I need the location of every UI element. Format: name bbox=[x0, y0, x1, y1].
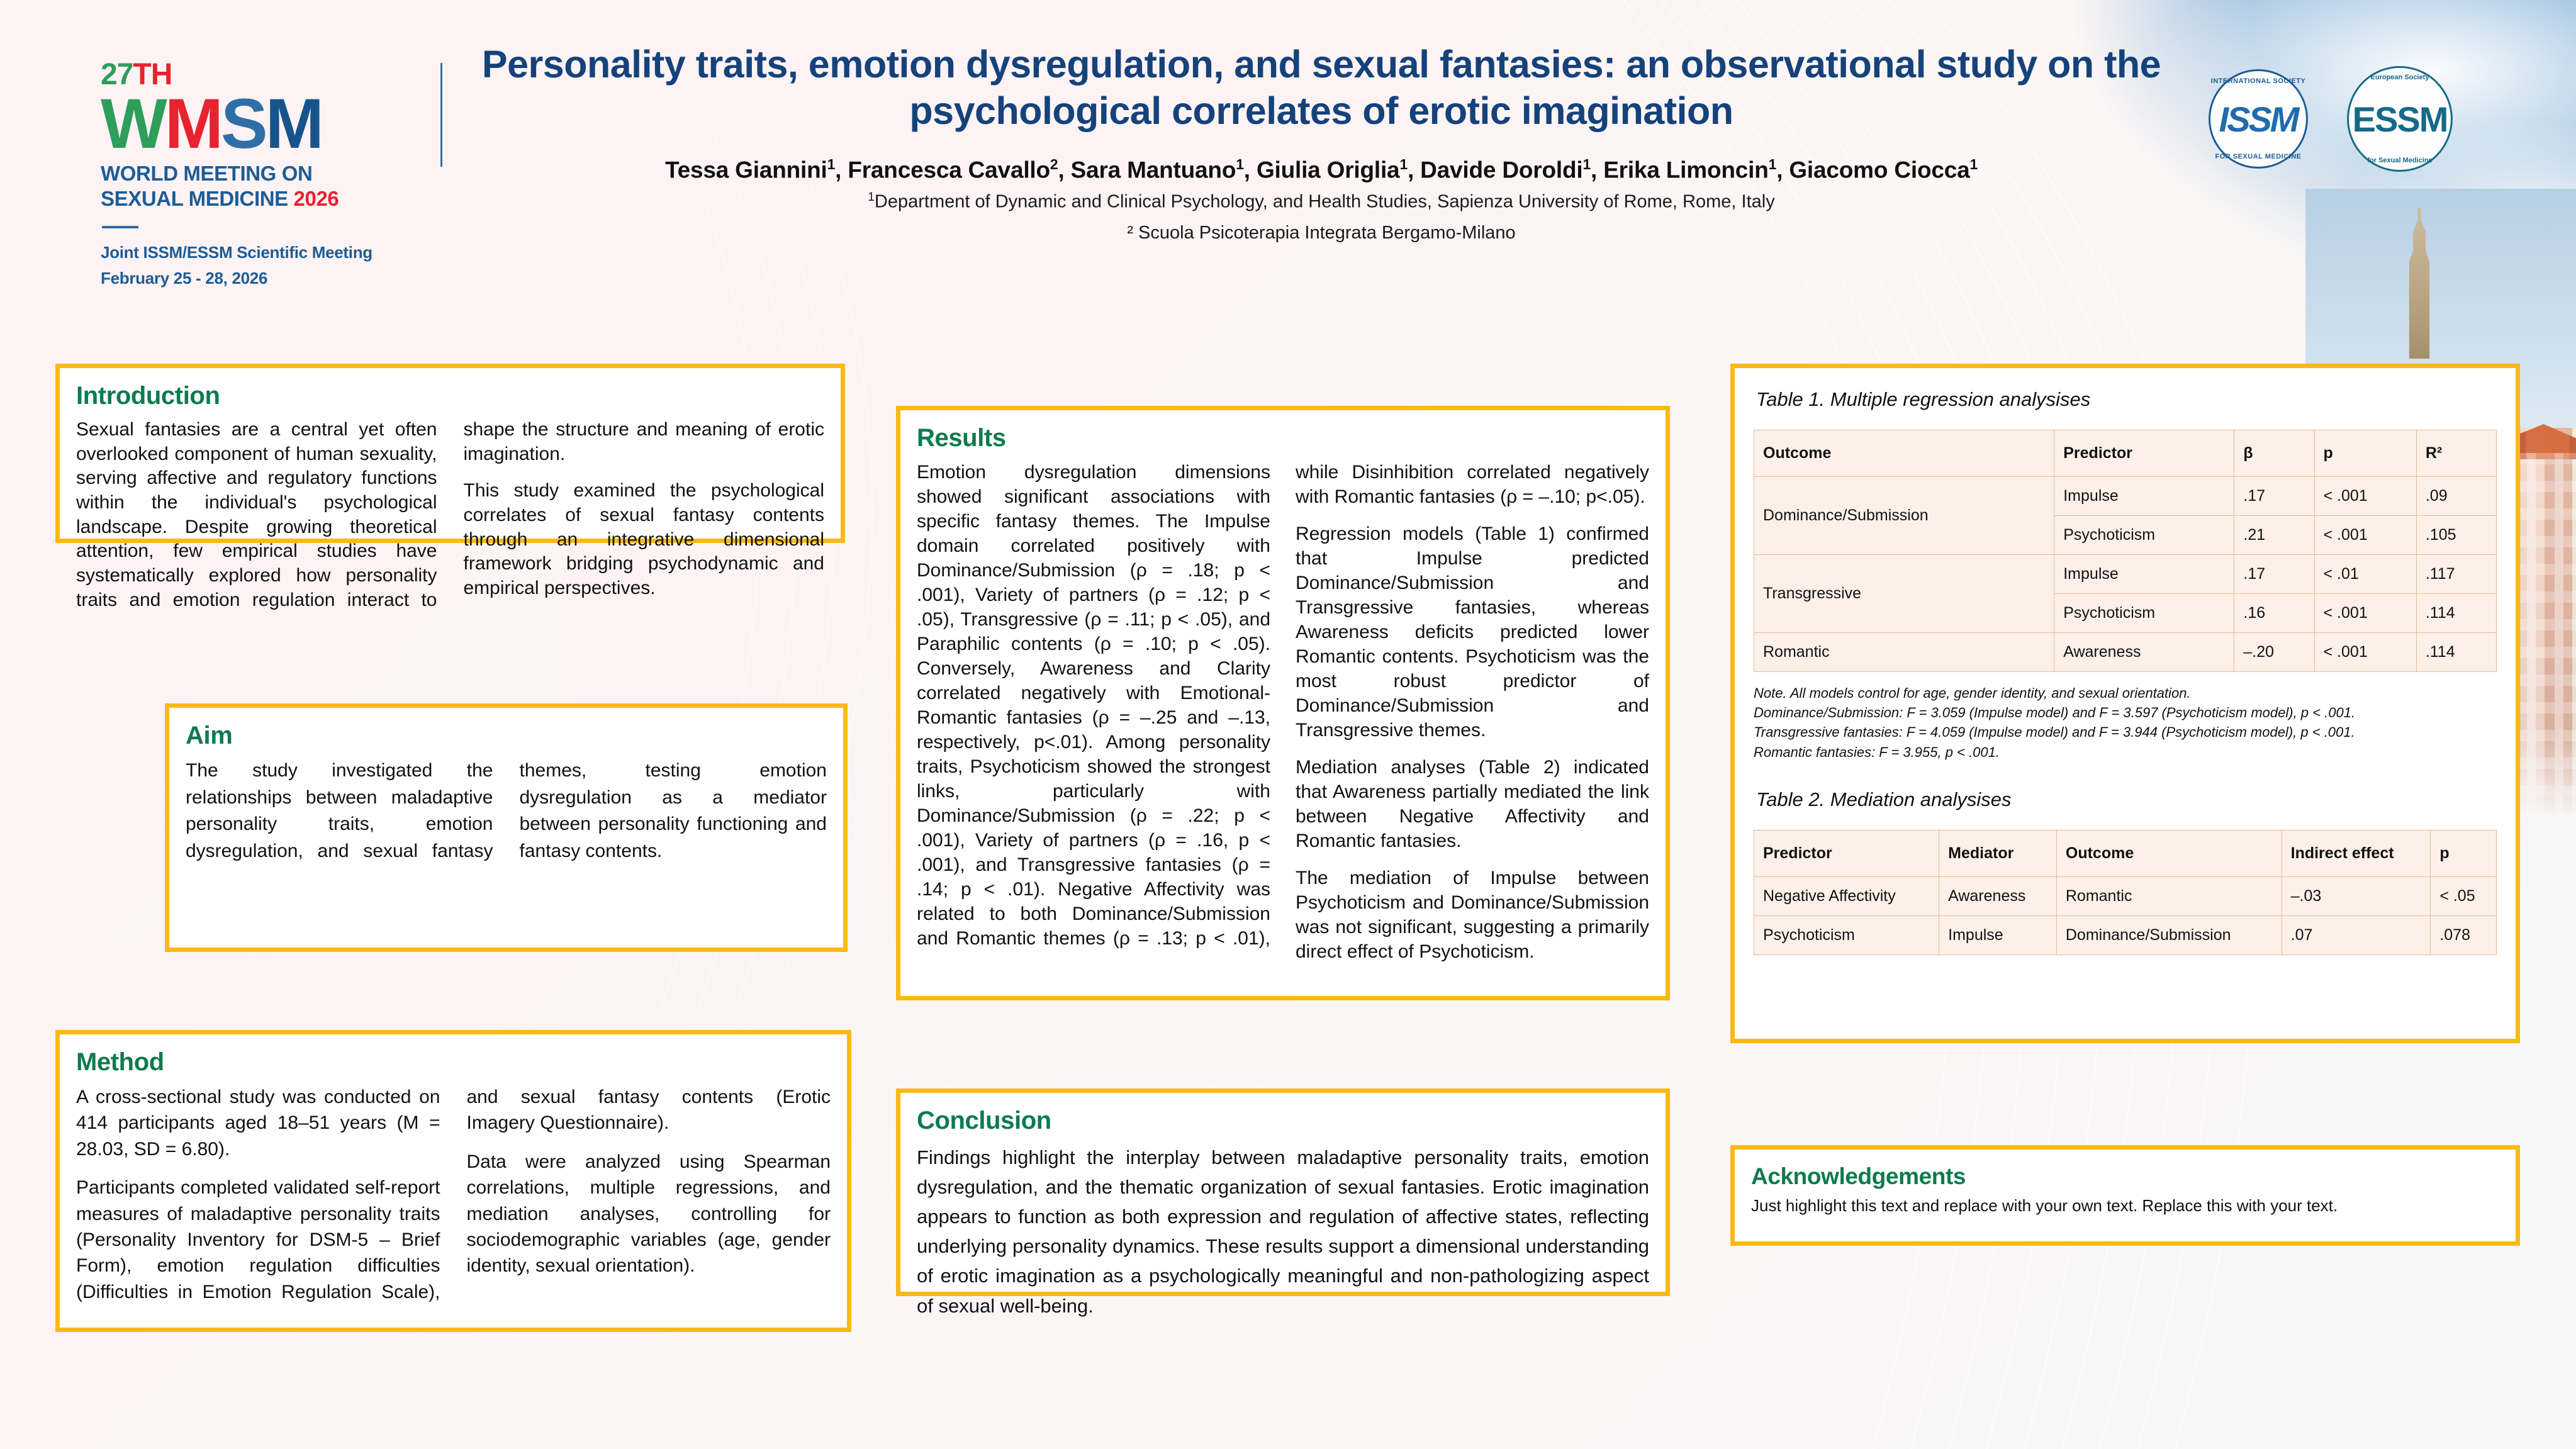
acknowledgements-text: Just highlight this text and replace wit… bbox=[1751, 1196, 2499, 1216]
table1-note-line-1: Note. All models control for age, gender… bbox=[1754, 683, 2497, 703]
table1-cell: –.20 bbox=[2234, 633, 2314, 672]
method-heading: Method bbox=[76, 1048, 831, 1077]
logo-letter-m2: M bbox=[266, 84, 322, 163]
table-row: PsychoticismImpulseDominance/Submission.… bbox=[1754, 915, 2497, 954]
section-results: Results Emotion dysregulation dimensions… bbox=[896, 406, 1670, 1000]
table-row: Negative AffectivityAwarenessRomantic–.0… bbox=[1754, 876, 2497, 915]
poster-header: 27TH WMSM WORLD MEETING ON SEXUAL MEDICI… bbox=[0, 0, 2576, 327]
table-row: TransgressiveImpulse.17< .01.117 bbox=[1754, 555, 2497, 594]
essm-ring-bottom-text: for Sexual Medicine bbox=[2347, 157, 2453, 164]
essm-logo: European Society ESSM for Sexual Medicin… bbox=[2347, 66, 2453, 172]
table1-cell: .105 bbox=[2416, 516, 2496, 555]
table2-header-2: Outcome bbox=[2056, 830, 2282, 876]
wmsm-conference-logo: 27TH WMSM WORLD MEETING ON SEXUAL MEDICI… bbox=[101, 60, 403, 292]
section-introduction: Introduction Sexual fantasies are a cent… bbox=[55, 364, 845, 543]
results-paragraph-4: The mediation of Impulse between Psychot… bbox=[1296, 866, 1649, 964]
table2-cell: Dominance/Submission bbox=[2056, 915, 2282, 954]
table1-header-2: β bbox=[2234, 430, 2314, 477]
table1-outcome-cell: Romantic bbox=[1754, 633, 2054, 672]
table-mediation-analyses: PredictorMediatorOutcomeIndirect effectp… bbox=[1754, 830, 2497, 955]
table1-cell: < .001 bbox=[2314, 477, 2416, 516]
table2-cell: Awareness bbox=[1939, 876, 2057, 915]
table2-body: Negative AffectivityAwarenessRomantic–.0… bbox=[1754, 876, 2497, 954]
method-body: A cross-sectional study was conducted on… bbox=[76, 1084, 831, 1305]
conclusion-heading: Conclusion bbox=[917, 1107, 1649, 1135]
page-title: Personality traits, emotion dysregulatio… bbox=[440, 41, 2202, 135]
issm-abbr: ISSM bbox=[2219, 99, 2298, 140]
aim-body: The study investigated the relationships… bbox=[186, 758, 827, 864]
table1-cell: < .01 bbox=[2314, 555, 2416, 594]
table1-cell: .117 bbox=[2416, 555, 2496, 594]
table1-caption: Table 1. Multiple regression analysises bbox=[1756, 388, 2497, 411]
table1-header-3: p bbox=[2314, 430, 2416, 477]
table2-cell: Negative Affectivity bbox=[1754, 876, 1939, 915]
table1-cell: .21 bbox=[2234, 516, 2314, 555]
logo-subtitle: WORLD MEETING ON SEXUAL MEDICINE 2026 bbox=[101, 161, 403, 212]
method-paragraph-3: Data were analyzed using Spearman correl… bbox=[467, 1149, 831, 1279]
affiliation-2: ² Scuola Psicoterapia Integrata Bergamo-… bbox=[440, 223, 2202, 243]
logo-acronym: WMSM bbox=[101, 91, 403, 156]
method-paragraph-1: A cross-sectional study was conducted on… bbox=[76, 1084, 440, 1162]
meeting-dates: February 25 - 28, 2026 bbox=[101, 266, 403, 292]
section-conclusion: Conclusion Findings highlight the interp… bbox=[896, 1088, 1670, 1296]
table2-cell: Impulse bbox=[1939, 915, 2057, 954]
logo-subtitle-line2: SEXUAL MEDICINE bbox=[101, 187, 294, 210]
table2-cell: Psychoticism bbox=[1754, 915, 1939, 954]
table2-header-row: PredictorMediatorOutcomeIndirect effectp bbox=[1754, 830, 2497, 876]
results-heading: Results bbox=[917, 424, 1649, 452]
table-multiple-regression: OutcomePredictorβpR² Dominance/Submissio… bbox=[1754, 430, 2497, 672]
table1-cell: .17 bbox=[2234, 555, 2314, 594]
author-list: Tessa Giannini1, Francesca Cavallo2, Sar… bbox=[440, 156, 2202, 183]
table1-note-line-2: Dominance/Submission: F = 3.059 (Impulse… bbox=[1754, 703, 2497, 722]
logo-letter-s: S bbox=[221, 84, 266, 163]
acknowledgements-heading: Acknowledgements bbox=[1751, 1163, 2499, 1190]
results-paragraph-3: Mediation analyses (Table 2) indicated t… bbox=[1296, 755, 1649, 853]
table1-cell: Psychoticism bbox=[2054, 516, 2234, 555]
logo-letter-w: W bbox=[101, 84, 165, 163]
table1-header-4: R² bbox=[2416, 430, 2496, 477]
logo-letter-m: M bbox=[165, 84, 221, 163]
logo-subtitle-year: 2026 bbox=[294, 187, 339, 210]
table2-cell: < .05 bbox=[2431, 876, 2497, 915]
table2-cell: –.03 bbox=[2282, 876, 2431, 915]
table1-note-line-4: Romantic fantasies: F = 3.955, p < .001. bbox=[1754, 742, 2497, 762]
essm-abbr: ESSM bbox=[2353, 99, 2448, 140]
logo-meeting-info: Joint ISSM/ESSM Scientific Meeting Febru… bbox=[101, 240, 403, 292]
section-aim: Aim The study investigated the relations… bbox=[165, 703, 848, 952]
affiliation-1: 1Department of Dynamic and Clinical Psyc… bbox=[440, 191, 2202, 213]
issm-ring-bottom-text: FOR SEXUAL MEDICINE bbox=[2209, 153, 2308, 160]
title-block: Personality traits, emotion dysregulatio… bbox=[440, 41, 2202, 243]
meeting-name: Joint ISSM/ESSM Scientific Meeting bbox=[101, 240, 403, 266]
table1-cell: < .001 bbox=[2314, 633, 2416, 672]
table2-cell: Romantic bbox=[2056, 876, 2282, 915]
conclusion-body: Findings highlight the interplay between… bbox=[917, 1143, 1649, 1321]
logo-subtitle-line1: WORLD MEETING ON bbox=[101, 161, 403, 186]
introduction-body: Sexual fantasies are a central yet often… bbox=[76, 418, 824, 613]
table1-header-0: Outcome bbox=[1754, 430, 2054, 477]
table1-cell: .09 bbox=[2416, 477, 2496, 516]
table2-header-0: Predictor bbox=[1754, 830, 1939, 876]
essm-ring-top-text: European Society bbox=[2347, 74, 2453, 81]
table1-outcome-cell: Dominance/Submission bbox=[1754, 477, 2054, 555]
table1-cell: .17 bbox=[2234, 477, 2314, 516]
section-tables: Table 1. Multiple regression analysises … bbox=[1730, 364, 2520, 1043]
introduction-paragraph-2: This study examined the psychological co… bbox=[464, 479, 825, 600]
section-acknowledgements: Acknowledgements Just highlight this tex… bbox=[1730, 1145, 2520, 1246]
table1-outcome-cell: Transgressive bbox=[1754, 555, 2054, 633]
table1-cell: Awareness bbox=[2054, 633, 2234, 672]
table-row: RomanticAwareness–.20< .001.114 bbox=[1754, 633, 2497, 672]
table1-cell: .114 bbox=[2416, 594, 2496, 633]
table2-wrapper: Table 2. Mediation analysises PredictorM… bbox=[1754, 788, 2497, 955]
table2-cell: .07 bbox=[2282, 915, 2431, 954]
table1-cell: Impulse bbox=[2054, 555, 2234, 594]
logo-divider-rule bbox=[102, 226, 138, 228]
table2-header-3: Indirect effect bbox=[2282, 830, 2431, 876]
table1-cell: Psychoticism bbox=[2054, 594, 2234, 633]
table1-cell: .16 bbox=[2234, 594, 2314, 633]
introduction-heading: Introduction bbox=[76, 382, 824, 410]
table2-header-1: Mediator bbox=[1939, 830, 2057, 876]
table1-header-1: Predictor bbox=[2054, 430, 2234, 477]
table1-header-row: OutcomePredictorβpR² bbox=[1754, 430, 2497, 477]
table1-note: Note. All models control for age, gender… bbox=[1754, 683, 2497, 762]
section-method: Method A cross-sectional study was condu… bbox=[55, 1030, 851, 1332]
issm-ring-top-text: INTERNATIONAL SOCIETY bbox=[2209, 77, 2308, 85]
table1-note-line-3: Transgressive fantasies: F = 4.059 (Impu… bbox=[1754, 722, 2497, 742]
table1-cell: .114 bbox=[2416, 633, 2496, 672]
table2-header-4: p bbox=[2431, 830, 2497, 876]
table2-caption: Table 2. Mediation analysises bbox=[1756, 788, 2497, 811]
table2-cell: .078 bbox=[2431, 915, 2497, 954]
aim-heading: Aim bbox=[186, 722, 827, 750]
table1-cell: Impulse bbox=[2054, 477, 2234, 516]
conclusion-paragraph-1: Findings highlight the interplay between… bbox=[917, 1143, 1649, 1321]
issm-logo: INTERNATIONAL SOCIETY ISSM FOR SEXUAL ME… bbox=[2209, 69, 2308, 169]
results-body: Emotion dysregulation dimensions showed … bbox=[917, 460, 1649, 964]
table1-cell: < .001 bbox=[2314, 516, 2416, 555]
table1-cell: < .001 bbox=[2314, 594, 2416, 633]
table-row: Dominance/SubmissionImpulse.17< .001.09 bbox=[1754, 477, 2497, 516]
table1-body: Dominance/SubmissionImpulse.17< .001.09P… bbox=[1754, 477, 2497, 672]
results-paragraph-2: Regression models (Table 1) confirmed th… bbox=[1296, 522, 1649, 742]
aim-paragraph-1: The study investigated the relationships… bbox=[186, 758, 827, 864]
